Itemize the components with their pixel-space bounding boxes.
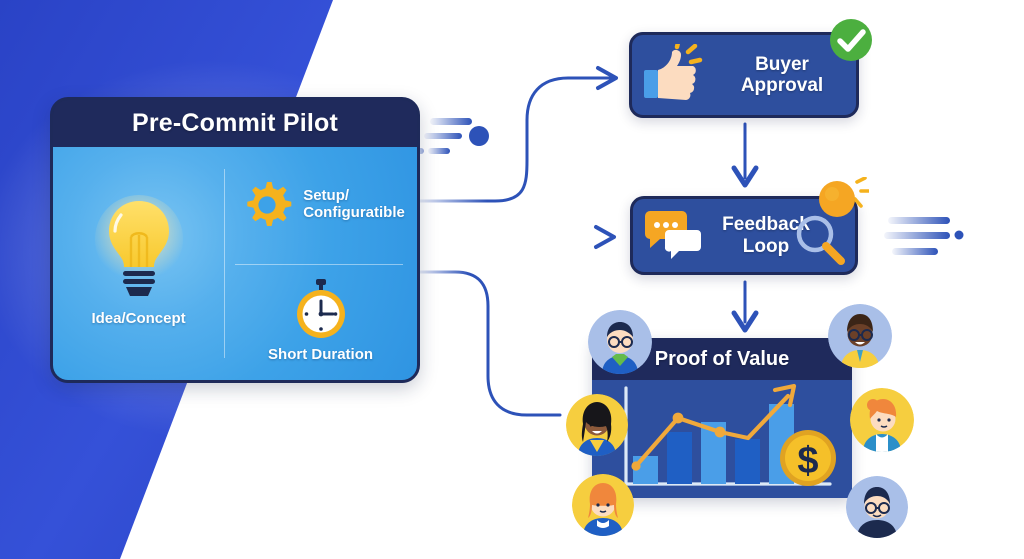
trend-point-3 [715,427,726,438]
thumbs-up-icon [642,44,708,106]
avatar-person-1[interactable] [588,310,652,374]
avatar-person-2[interactable] [566,394,628,456]
sun-idea-badge-icon [811,177,869,229]
pre-commit-pilot-card[interactable]: Pre-Commit Pilot [50,97,420,383]
avatar-icon-1 [588,310,652,374]
infographic-canvas: Pre-Commit Pilot [0,0,1024,559]
pilot-item-setup-configuratible[interactable]: Setup/ Configuratible [224,147,417,264]
avatar-icon-6 [846,476,908,538]
pilot-item-idea-concept[interactable]: Idea/Concept [53,147,224,380]
proof-of-value-title: Proof of Value [655,348,789,371]
gear-icon [240,178,294,232]
pilot-item-short-duration[interactable]: Short Duration [224,264,417,381]
pilot-item-label-setup-line2: Configuratible [303,205,405,222]
avatar-person-5[interactable] [850,388,914,452]
pilot-items-right-column: Setup/ Configuratible [224,147,417,380]
pilot-item-label-setup-line1: Setup/ [303,188,405,205]
avatar-person-6[interactable] [846,476,908,538]
node-buyer-approval[interactable]: Buyer Approval [629,32,859,118]
proof-of-value-chart: $ [592,380,852,498]
avatar-icon-5 [850,388,914,452]
pilot-card-header: Pre-Commit Pilot [53,100,417,147]
growth-bar-chart: $ [592,380,852,498]
avatar-icon-2 [566,394,628,456]
lightbulb-icon [91,193,187,303]
dollar-coin-icon: $ [780,430,836,486]
trend-point-1 [631,461,640,470]
svg-text:$: $ [797,440,818,482]
green-check-badge-icon [828,17,874,63]
avatar-icon-4 [828,304,892,368]
node-buyer-approval-title-line2: Approval [708,75,856,96]
pilot-item-label-duration: Short Duration [268,347,373,364]
pilot-item-label-idea: Idea/Concept [91,311,185,328]
avatar-person-4[interactable] [828,304,892,368]
bar-4 [735,439,760,484]
pilot-card-body: Idea/Concept Setup/ Configuratible [53,147,417,380]
page-title: Pre-Commit Pilot [132,109,338,138]
avatar-icon-3 [572,474,634,536]
stopwatch-icon [292,279,350,341]
node-feedback-loop[interactable]: Feedback Loop [630,196,858,275]
trend-point-2 [673,413,684,424]
chat-bubbles-icon [643,210,703,262]
bar-2 [667,432,692,484]
pilot-item-label-setup: Setup/ Configuratible [303,188,405,222]
avatar-person-3[interactable] [572,474,634,536]
